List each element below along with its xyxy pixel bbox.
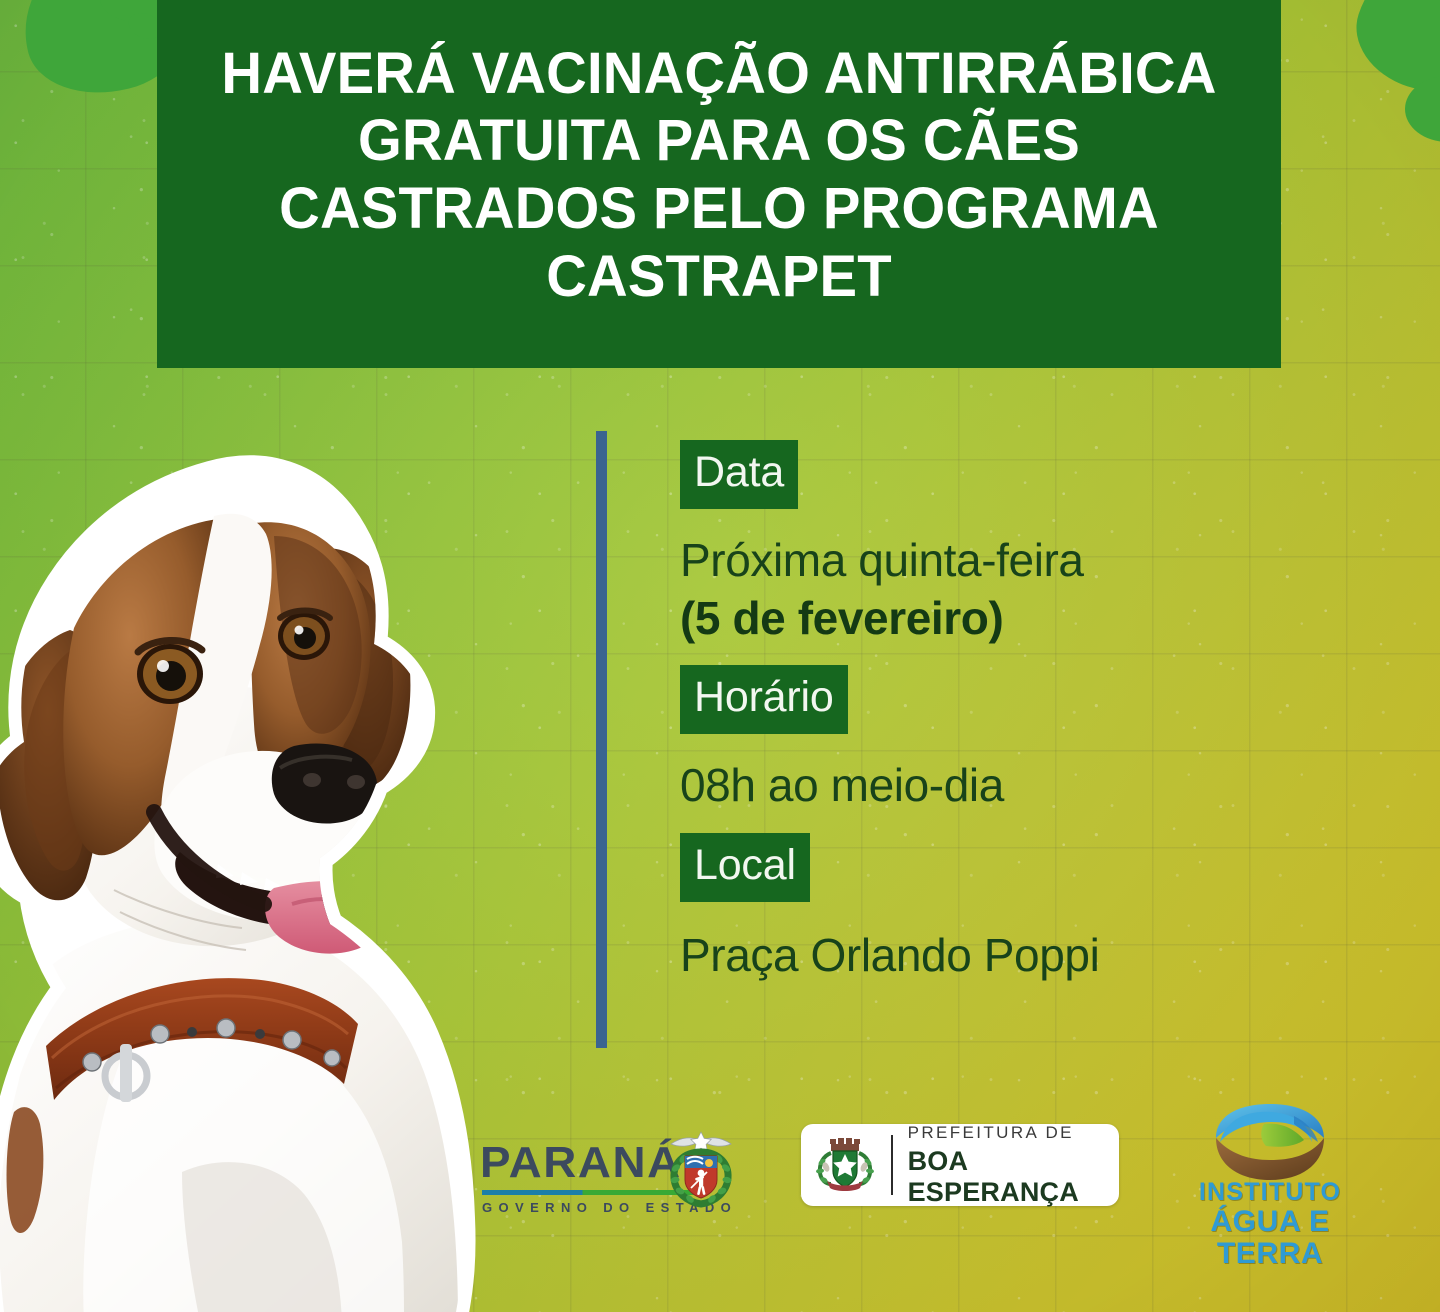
detail-row-location: Local (680, 833, 1320, 902)
label-local: Local (680, 833, 810, 902)
value-date-line1: Próxima quinta-feira (680, 537, 1320, 585)
headline-banner: HAVERÁ VACINAÇÃO ANTIRRÁBICA GRATUITA PA… (157, 0, 1281, 368)
agua-e-terra-leaf-mark-icon (1208, 1102, 1332, 1182)
page-title: HAVERÁ VACINAÇÃO ANTIRRÁBICA GRATUITA PA… (198, 40, 1240, 328)
logo-strip: PARANÁ GOVERNO DO ESTADO (0, 1096, 1440, 1246)
parana-coat-of-arms-icon (665, 1128, 737, 1208)
divider (891, 1135, 893, 1195)
vertical-accent-rule (596, 431, 607, 1048)
logo-parana: PARANÁ GOVERNO DO ESTADO (480, 1126, 740, 1218)
value-location: Praça Orlando Poppi (680, 932, 1320, 980)
event-details: Data Próxima quinta-feira (5 de fevereir… (680, 440, 1320, 980)
iat-line1: INSTITUTO (1180, 1180, 1360, 1205)
value-date-line2: (5 de fevereiro) (680, 595, 1320, 643)
boa-esperanca-coat-of-arms-icon (814, 1134, 876, 1196)
parana-wordmark: PARANÁ (480, 1138, 682, 1188)
prefeitura-text: PREFEITURA DE BOA ESPERANÇA (908, 1123, 1119, 1208)
label-data: Data (680, 440, 798, 509)
detail-row-date: Data (680, 440, 1320, 509)
prefeitura-line1: PREFEITURA DE (908, 1123, 1119, 1143)
headline-line-3: CASTRADOS PELO PROGRAMA (221, 175, 1216, 243)
value-time: 08h ao meio-dia (680, 762, 1320, 810)
label-horario: Horário (680, 665, 848, 734)
headline-line-2: GRATUITA PARA OS CÃES (221, 107, 1216, 175)
logo-instituto-agua-e-terra: INSTITUTO ÁGUA E TERRA (1180, 1102, 1360, 1242)
poster: HAVERÁ VACINAÇÃO ANTIRRÁBICA GRATUITA PA… (0, 0, 1440, 1312)
iat-line2: ÁGUA E TERRA (1180, 1206, 1360, 1269)
prefeitura-line2: BOA ESPERANÇA (908, 1146, 1119, 1208)
headline-line-4: CASTRAPET (221, 243, 1216, 311)
detail-row-time: Horário (680, 665, 1320, 734)
logo-prefeitura-boa-esperanca: PREFEITURA DE BOA ESPERANÇA (801, 1124, 1119, 1206)
headline-line-1: HAVERÁ VACINAÇÃO ANTIRRÁBICA (221, 40, 1216, 108)
